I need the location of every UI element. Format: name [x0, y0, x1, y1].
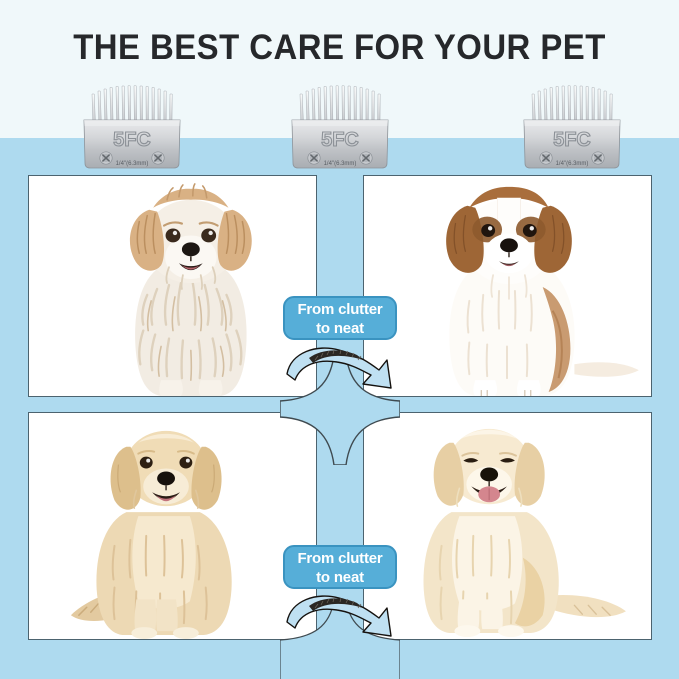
- photo-panel-top-right: [363, 175, 652, 397]
- clipper-blade-center: 5FC 1/4"(6.3mm): [286, 80, 394, 172]
- callout-line-1: From clutter: [297, 550, 382, 567]
- callout-badge-top: From clutter to neat: [283, 296, 397, 340]
- blade-model-text: 5FC: [113, 129, 151, 151]
- curved-arrow-icon-bottom: [283, 592, 395, 648]
- clipper-blade-left: 5FC 1/4"(6.3mm): [78, 80, 186, 172]
- blade-model-text: 5FC: [321, 129, 359, 151]
- page-title: THE BEST CARE FOR YOUR PET: [20, 28, 658, 68]
- photo-panel-top-left: [28, 175, 317, 397]
- photo-panel-bottom-left: [28, 412, 317, 640]
- blade-size-text: 1/4"(6.3mm): [116, 161, 149, 167]
- blade-model-text: 5FC: [553, 129, 591, 151]
- blade-size-text: 1/4"(6.3mm): [556, 161, 589, 167]
- callout-line-2: to neat: [285, 319, 395, 338]
- clipper-blade-right: 5FC 1/4"(6.3mm): [518, 80, 626, 172]
- curved-arrow-icon-top: [283, 344, 395, 400]
- photo-panel-bottom-right: [363, 412, 652, 640]
- product-poster: THE BEST CARE FOR YOUR PET: [0, 0, 679, 679]
- callout-badge-bottom: From clutter to neat: [283, 545, 397, 589]
- callout-line-2: to neat: [285, 568, 395, 587]
- callout-line-1: From clutter: [297, 301, 382, 318]
- blade-size-text: 1/4"(6.3mm): [324, 161, 357, 167]
